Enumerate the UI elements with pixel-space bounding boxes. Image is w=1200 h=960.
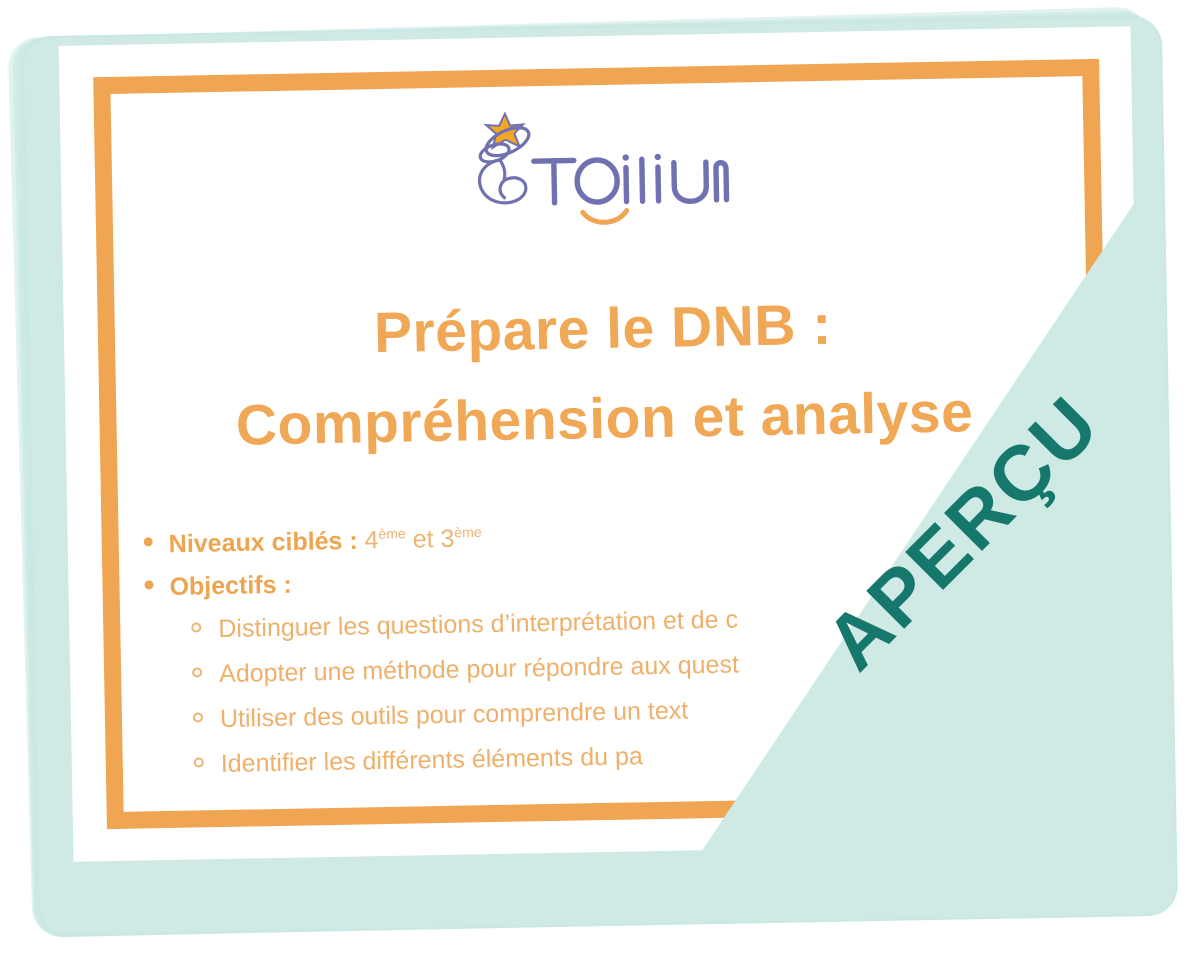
letter-i-dot: [622, 154, 629, 161]
page-title: Prépare le DNB : Compréhension et analys…: [123, 275, 1084, 473]
smile-underline-icon: [583, 211, 627, 223]
level-target-line: Niveaux ciblés : 4ème et 3ème: [169, 524, 482, 559]
slide-content: Prépare le DNB : Compréhension et analys…: [120, 79, 1091, 808]
level-target-value: 4ème et 3ème: [357, 525, 481, 555]
objectives-list: Distinguer les questions d’interprétatio…: [191, 600, 1090, 780]
objective-text: Identifier les différents éléments du pa: [221, 743, 643, 780]
objective-text: Distinguer les questions d’interprétatio…: [218, 606, 738, 645]
objective-text: Utiliser des outils pour comprendre un t…: [220, 697, 689, 735]
bullet-ring-icon: [191, 623, 201, 633]
level-target-label: Niveaux ciblés :: [169, 527, 358, 558]
objectives-heading: Objectifs :: [169, 571, 292, 602]
level-sup-1: ème: [378, 526, 406, 542]
bullet-dot-icon: [144, 538, 153, 547]
preview-card-stage: Prépare le DNB : Compréhension et analys…: [0, 0, 1200, 960]
list-item: Utiliser des outils pour comprendre un t…: [193, 690, 1089, 735]
etoilium-logo: [120, 93, 1080, 241]
bullet-ring-icon: [192, 668, 202, 678]
title-line-1: Prépare le DNB :: [123, 275, 1082, 383]
list-item: Identifier les différents éléments du pa: [194, 735, 1090, 780]
letter-i-dot: [654, 154, 661, 161]
list-item: Adopter une méthode pour répondre aux qu…: [192, 645, 1088, 690]
objective-text: Adopter une méthode pour répondre aux qu…: [219, 651, 739, 690]
wordmark-letters: [534, 158, 727, 205]
slide-page: Prépare le DNB : Compréhension et analys…: [59, 26, 1146, 862]
level-sup-2: ème: [454, 524, 482, 540]
bullet-ring-icon: [194, 758, 204, 768]
bullet-ring-icon: [193, 713, 203, 723]
title-line-2: Compréhension et analyse: [125, 365, 1084, 473]
etoilium-logo-mark: [469, 106, 731, 229]
bullet-dot-icon: [144, 581, 153, 590]
